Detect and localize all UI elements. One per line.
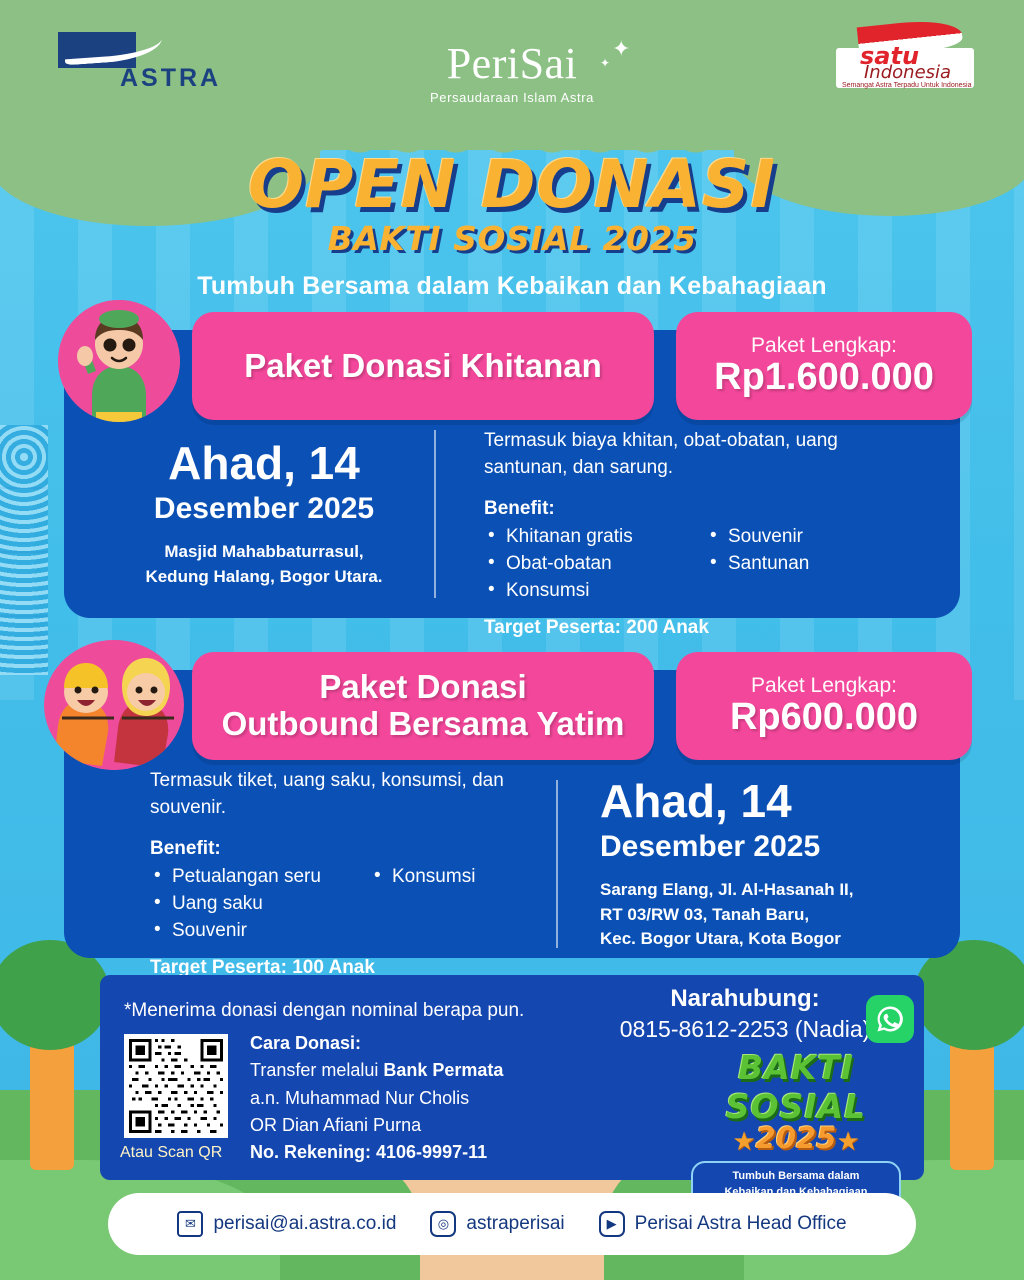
package2-price: Rp600.000 bbox=[730, 696, 918, 739]
badge-line2-row: ★2025★ bbox=[680, 1126, 912, 1157]
package2-title-line2: Outbound Bersama Yatim bbox=[222, 706, 625, 743]
footer-youtube-item[interactable]: ▶ Perisai Astra Head Office bbox=[599, 1211, 847, 1237]
badge-line2: 2025 bbox=[756, 1121, 837, 1155]
contact-phone[interactable]: 0815-8612-2253 (Nadia) bbox=[595, 1016, 895, 1043]
satu-indonesia-logo: satu Indonesia Semangat Astra Terpadu Un… bbox=[836, 26, 974, 88]
hero-title: OPEN DONASI bbox=[0, 146, 1024, 223]
footer-email-item[interactable]: ✉ perisai@ai.astra.co.id bbox=[177, 1211, 396, 1237]
list-item: Santunan bbox=[706, 551, 809, 578]
qr-caption: Atau Scan QR bbox=[120, 1144, 222, 1162]
list-item: Obat-obatan bbox=[484, 551, 696, 578]
instagram-icon: ◎ bbox=[430, 1211, 456, 1237]
footer-instagram-item[interactable]: ◎ astraperisai bbox=[430, 1211, 564, 1237]
package2-benefit-col1: Petualangan seru Uang saku Souvenir bbox=[150, 864, 360, 945]
donation-how-heading: Cara Donasi: bbox=[250, 1030, 503, 1057]
star-left-icon: ★ bbox=[732, 1126, 755, 1156]
hero-title-block: OPEN DONASI BAKTI SOSIAL 2025 Tumbuh Ber… bbox=[0, 146, 1024, 301]
hero-subtitle: BAKTI SOSIAL 2025 bbox=[0, 219, 1024, 258]
package2-price-pill: Paket Lengkap: Rp600.000 bbox=[676, 652, 972, 760]
package2-title-line1: Paket Donasi bbox=[222, 669, 625, 706]
donation-qr-code[interactable] bbox=[124, 1034, 228, 1138]
contact-block: Narahubung: 0815-8612-2253 (Nadia) bbox=[595, 985, 895, 1043]
avatar-boy-illustration bbox=[58, 300, 180, 422]
star-small-icon: ✦ bbox=[600, 56, 610, 70]
package1-location-line1: Masjid Mahabbaturrasul, bbox=[104, 540, 424, 565]
donation-transfer-line: Transfer melalui Bank Permata bbox=[250, 1057, 503, 1084]
package1-divider bbox=[434, 430, 436, 598]
package2-location: Sarang Elang, Jl. Al-Hasanah II, RT 03/R… bbox=[600, 878, 960, 952]
package1-location: Masjid Mahabbaturrasul, Kedung Halang, B… bbox=[104, 540, 424, 589]
list-item: Petualangan seru bbox=[150, 864, 360, 891]
star-right-icon: ★ bbox=[836, 1126, 859, 1156]
list-item: Konsumsi bbox=[370, 864, 475, 891]
package2-location-line1: Sarang Elang, Jl. Al-Hasanah II, bbox=[600, 878, 960, 903]
list-item: Souvenir bbox=[150, 918, 360, 945]
package1-benefit-heading: Benefit: bbox=[484, 498, 924, 520]
package2-benefit-col2: Konsumsi bbox=[370, 864, 475, 945]
package1-price-pill: Paket Lengkap: Rp1.600.000 bbox=[676, 312, 972, 420]
list-item: Souvenir bbox=[706, 524, 809, 551]
package1-price-label: Paket Lengkap: bbox=[751, 334, 897, 358]
youtube-icon: ▶ bbox=[599, 1211, 625, 1237]
package1-benefit-col2: Souvenir Santunan bbox=[706, 524, 809, 605]
donation-account-number: No. Rekening: 4106-9997-11 bbox=[250, 1139, 503, 1166]
package1-benefit-list: Khitanan gratis Obat-obatan Konsumsi Sou… bbox=[484, 524, 924, 605]
package2-title: Paket Donasi Outbound Bersama Yatim bbox=[222, 669, 625, 743]
bakti-sosial-badge: BAKTI SOSIAL ★2025★ Tumbuh Bersama dalam… bbox=[680, 1048, 912, 1209]
donation-transfer-prefix: Transfer melalui bbox=[250, 1060, 383, 1080]
package1-title-pill: Paket Donasi Khitanan bbox=[192, 312, 654, 420]
package2-date-block: Ahad, 14 Desember 2025 Sarang Elang, Jl.… bbox=[600, 778, 960, 952]
package2-location-line2: RT 03/RW 03, Tanah Baru, bbox=[600, 903, 960, 928]
whatsapp-icon[interactable] bbox=[866, 995, 914, 1043]
satu-logo-tagline: Semangat Astra Terpadu Untuk Indonesia bbox=[842, 82, 971, 89]
package2-divider bbox=[556, 780, 558, 948]
list-item: Khitanan gratis bbox=[484, 524, 696, 551]
footer-instagram-text: astraperisai bbox=[466, 1213, 564, 1235]
email-icon: ✉ bbox=[177, 1211, 203, 1237]
package1-date-block: Ahad, 14 Desember 2025 Masjid Mahabbatur… bbox=[104, 440, 424, 589]
package1-price: Rp1.600.000 bbox=[714, 356, 934, 399]
package2-benefit-heading: Benefit: bbox=[150, 838, 570, 860]
package2-day: Ahad, 14 bbox=[600, 778, 960, 824]
package1-title: Paket Donasi Khitanan bbox=[244, 348, 602, 385]
package1-benefit-col1: Khitanan gratis Obat-obatan Konsumsi bbox=[484, 524, 696, 605]
footer-youtube-text: Perisai Astra Head Office bbox=[635, 1213, 847, 1235]
package2-location-line3: Kec. Bogor Utara, Kota Bogor bbox=[600, 927, 960, 952]
package2-includes: Termasuk tiket, uang saku, konsumsi, dan… bbox=[150, 768, 570, 822]
package2-price-label: Paket Lengkap: bbox=[751, 674, 897, 698]
package1-location-line2: Kedung Halang, Bogor Utara. bbox=[104, 565, 424, 590]
donation-account-name-alt: OR Dian Afiani Purna bbox=[250, 1112, 503, 1139]
package1-month-year: Desember 2025 bbox=[104, 492, 424, 526]
package2-info-block: Termasuk tiket, uang saku, konsumsi, dan… bbox=[150, 768, 570, 979]
hero-tagline: Tumbuh Bersama dalam Kebaikan dan Kebaha… bbox=[0, 272, 1024, 301]
package1-info-block: Termasuk biaya khitan, obat-obatan, uang… bbox=[484, 428, 924, 639]
donation-bank-name: Bank Permata bbox=[383, 1060, 503, 1080]
footer-email-text: perisai@ai.astra.co.id bbox=[213, 1213, 396, 1235]
footer-contact-bar: ✉ perisai@ai.astra.co.id ◎ astraperisai … bbox=[108, 1193, 916, 1255]
package1-target: Target Peserta: 200 Anak bbox=[484, 617, 924, 639]
package2-month-year: Desember 2025 bbox=[600, 830, 960, 864]
satu-logo-line2: Indonesia bbox=[864, 62, 951, 83]
package1-includes: Termasuk biaya khitan, obat-obatan, uang… bbox=[484, 428, 924, 482]
batik-pattern-dividers bbox=[0, 425, 48, 675]
package2-benefit-list: Petualangan seru Uang saku Souvenir Kons… bbox=[150, 864, 570, 945]
badge-caption-line1: Tumbuh Bersama dalam bbox=[697, 1169, 895, 1185]
donation-instructions: Cara Donasi: Transfer melalui Bank Perma… bbox=[250, 1030, 503, 1167]
contact-heading: Narahubung: bbox=[595, 985, 895, 1013]
package2-title-pill: Paket Donasi Outbound Bersama Yatim bbox=[192, 652, 654, 760]
star-icon: ✦ bbox=[612, 36, 630, 62]
avatar-outbound-kids-illustration bbox=[44, 640, 184, 770]
list-item: Konsumsi bbox=[484, 578, 696, 605]
perisai-logo-subtitle: Persaudaraan Islam Astra bbox=[0, 90, 1024, 105]
donation-note: *Menerima donasi dengan nominal berapa p… bbox=[124, 1000, 524, 1022]
list-item: Uang saku bbox=[150, 891, 360, 918]
donation-account-name: a.n. Muhammad Nur Cholis bbox=[250, 1085, 503, 1112]
badge-line1: BAKTI SOSIAL bbox=[680, 1048, 912, 1126]
package1-day: Ahad, 14 bbox=[104, 440, 424, 486]
